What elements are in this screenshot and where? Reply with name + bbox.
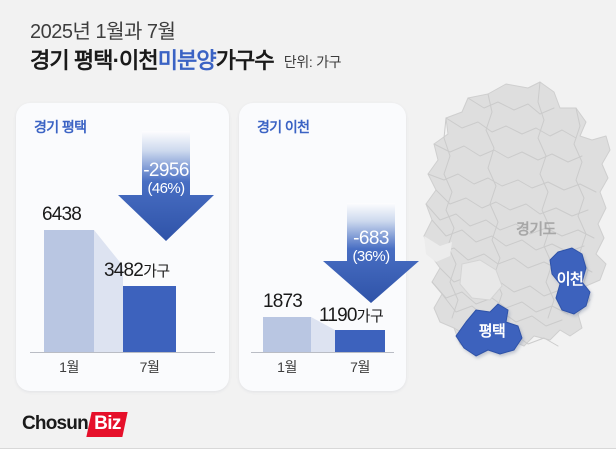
- gyeonggi-map: 이천 평택 경기도: [410, 78, 616, 398]
- change-arrow-pyeongtaek: -2956 (46%): [118, 131, 214, 241]
- header: 2025년 1월과 7월 경기 평택·이천 미분양 가구수 단위: 가구: [30, 20, 500, 74]
- x-label-jan-pyeongtaek: 1월: [44, 357, 94, 377]
- chart-title-pyeongtaek: 경기 평택: [34, 117, 86, 137]
- x-label-jul-icheon: 7월: [335, 357, 385, 377]
- map-label-pyeongtaek: 평택: [479, 322, 506, 340]
- logo-text-chosun: Chosun: [22, 413, 88, 435]
- chart-card-icheon: 경기 이천 1873 1190가구 1월 7월: [239, 103, 406, 391]
- x-axis-line: [30, 352, 215, 353]
- value-label-jul-pyeongtaek: 3482가구: [104, 260, 170, 282]
- x-label-jan-icheon: 1월: [263, 357, 311, 377]
- bar-connector-band: [311, 330, 335, 352]
- logo-badge-biz: Biz: [86, 412, 127, 437]
- infographic-canvas: 2025년 1월과 7월 경기 평택·이천 미분양 가구수 단위: 가구: [0, 0, 616, 449]
- value-label-jan-pyeongtaek: 6438: [42, 204, 81, 226]
- title-suffix: 가구수: [216, 48, 274, 74]
- bar-jul-icheon: [335, 330, 385, 352]
- title-kicker: 2025년 1월과 7월: [30, 20, 500, 45]
- page-title: 경기 평택·이천 미분양 가구수 단위: 가구: [30, 48, 500, 74]
- title-highlight: 미분양: [158, 48, 216, 74]
- chart-card-pyeongtaek: 경기 평택 6438 3482가구 1월 7월: [16, 103, 229, 391]
- map-label-province: 경기도: [516, 220, 557, 238]
- bar-jan-pyeongtaek: [44, 230, 94, 352]
- bar-jan-icheon: [263, 317, 311, 352]
- x-label-jul-pyeongtaek: 7월: [123, 357, 176, 377]
- chosunbiz-logo: Chosun Biz: [22, 412, 125, 436]
- map-base-regions: [424, 82, 610, 352]
- value-label-jul-icheon: 1190가구: [319, 305, 383, 327]
- chart-title-icheon: 경기 이천: [257, 117, 309, 137]
- map-label-icheon: 이천: [557, 270, 584, 288]
- title-unit: 단위: 가구: [284, 54, 342, 71]
- bar-jul-pyeongtaek: [123, 286, 176, 352]
- title-prefix: 경기 평택·이천: [30, 48, 158, 74]
- x-axis-line: [251, 352, 394, 353]
- value-label-jan-icheon: 1873: [263, 291, 302, 313]
- change-arrow-icheon: -683 (36%): [323, 203, 419, 303]
